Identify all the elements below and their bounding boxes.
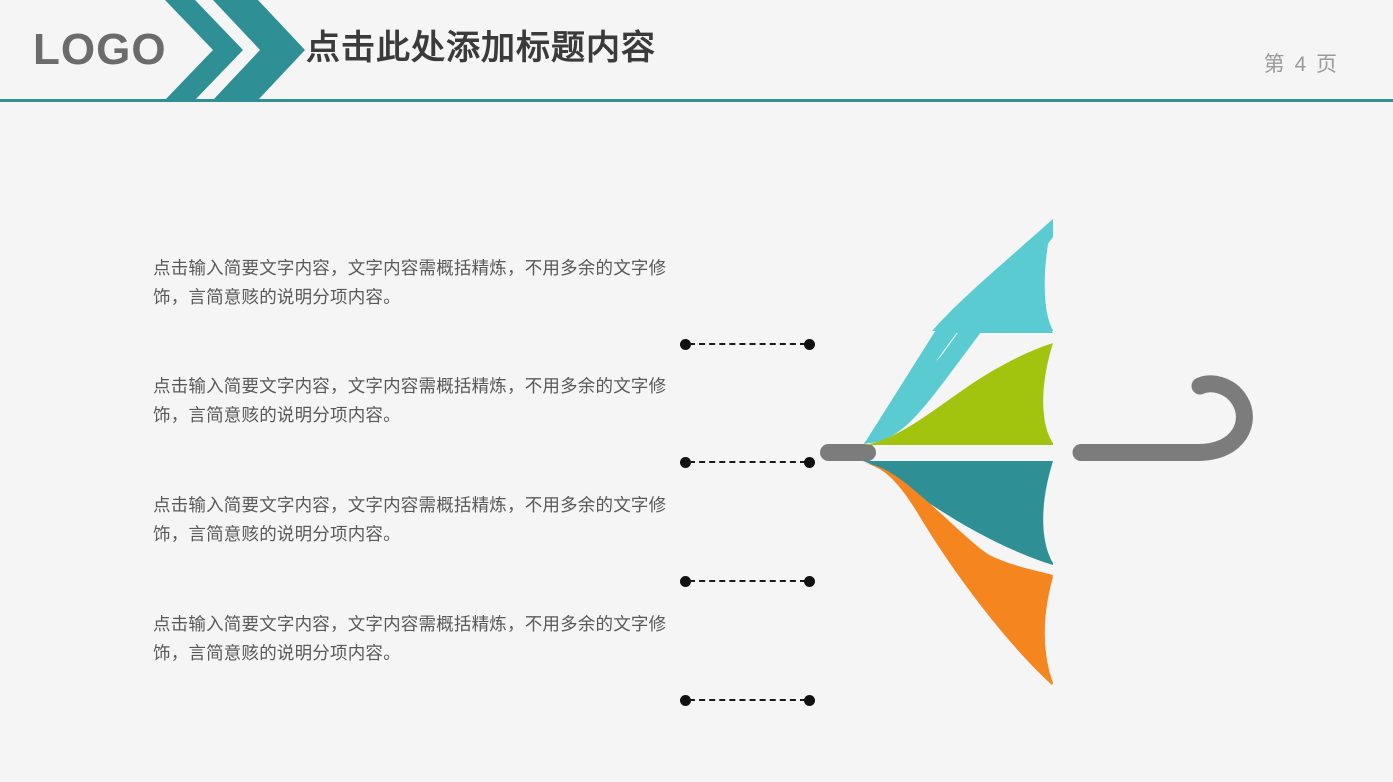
connector-dashes bbox=[689, 461, 806, 463]
umbrella-hook bbox=[1198, 384, 1244, 453]
page-title: 点击此处添加标题内容 bbox=[306, 25, 656, 71]
connector-line bbox=[680, 576, 815, 590]
logo-text: LOGO bbox=[33, 23, 167, 77]
list-item-text: 点击输入简要文字内容，文字内容需概括精炼，不用多余的文字修饰，言简意赅的说明分项… bbox=[153, 255, 673, 313]
connector-line bbox=[680, 339, 815, 353]
list-item-text: 点击输入简要文字内容，文字内容需概括精炼，不用多余的文字修饰，言简意赅的说明分项… bbox=[153, 373, 673, 431]
list-item[interactable]: 点击输入简要文字内容，文字内容需概括精炼，不用多余的文字修饰，言简意赅的说明分项… bbox=[0, 255, 840, 375]
list-item-text: 点击输入简要文字内容，文字内容需概括精炼，不用多余的文字修饰，言简意赅的说明分项… bbox=[153, 492, 673, 550]
list-item[interactable]: 点击输入简要文字内容，文字内容需概括精炼，不用多余的文字修饰，言简意赅的说明分项… bbox=[0, 373, 840, 493]
connector-dashes bbox=[689, 699, 806, 701]
connector-line bbox=[680, 695, 815, 709]
slide-header: LOGO 点击此处添加标题内容 第 4 页 bbox=[0, 0, 1393, 100]
list-item-text: 点击输入简要文字内容，文字内容需概括精炼，不用多余的文字修饰，言简意赅的说明分项… bbox=[153, 611, 673, 669]
chevron-arrows-icon bbox=[165, 0, 305, 100]
list-item[interactable]: 点击输入简要文字内容，文字内容需概括精炼，不用多余的文字修饰，言简意赅的说明分项… bbox=[0, 611, 840, 731]
connector-line bbox=[680, 457, 815, 471]
connector-dashes bbox=[689, 343, 806, 345]
umbrella-shaft-tip bbox=[820, 444, 876, 461]
list-item[interactable]: 点击输入简要文字内容，文字内容需概括精炼，不用多余的文字修饰，言简意赅的说明分项… bbox=[0, 492, 840, 612]
connector-dashes bbox=[689, 580, 806, 582]
page-number: 第 4 页 bbox=[1264, 48, 1339, 78]
umbrella-icon bbox=[800, 215, 1270, 705]
